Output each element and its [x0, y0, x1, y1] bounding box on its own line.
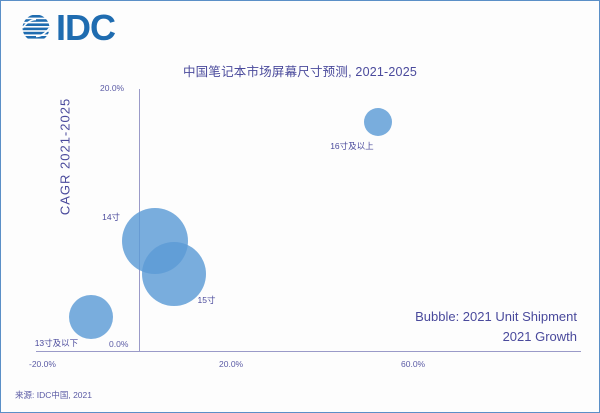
chart-frame: IDC 中国笔记本市场屏幕尺寸预测, 2021-2025 20.0% 0.0% …	[0, 0, 600, 413]
x-axis-line	[36, 351, 581, 352]
y-axis-title: CAGR 2021-2025	[58, 87, 73, 227]
bubble-label: 13寸及以下	[35, 337, 78, 349]
y-tick-label: 20.0%	[100, 83, 124, 93]
y-tick-label: 0.0%	[109, 339, 128, 349]
x-tick-label: 60.0%	[401, 359, 425, 369]
source-note: 来源: IDC中国, 2021	[15, 389, 92, 401]
bubble-label: 16寸及以上	[330, 140, 373, 152]
bubble-point[interactable]	[69, 295, 113, 339]
legend: Bubble: 2021 Unit Shipment 2021 Growth	[415, 307, 577, 347]
plot-area: 20.0% 0.0% -20.0% 20.0% 60.0% CAGR 2021-…	[1, 1, 600, 413]
bubble-point[interactable]	[364, 108, 392, 136]
legend-line-2: 2021 Growth	[415, 327, 577, 347]
bubble-label: 14寸	[102, 211, 120, 223]
x-tick-label: -20.0%	[29, 359, 56, 369]
legend-line-1: Bubble: 2021 Unit Shipment	[415, 307, 577, 327]
bubble-label: 15寸	[198, 294, 216, 306]
bubble-point[interactable]	[142, 242, 206, 306]
x-tick-label: 20.0%	[219, 359, 243, 369]
